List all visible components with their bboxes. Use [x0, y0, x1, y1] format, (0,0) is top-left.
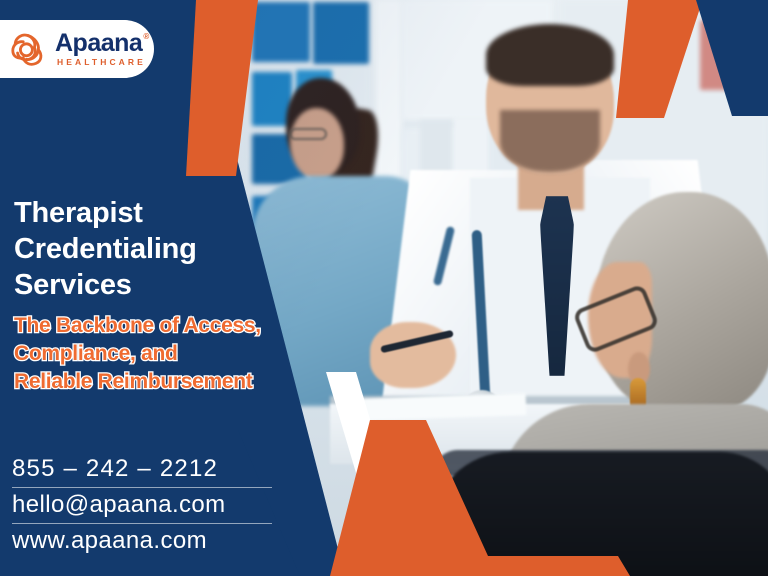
page-title: Therapist Credentialing Services: [14, 196, 314, 304]
subheadline-line-1: The Backbone of Access,: [14, 312, 334, 340]
brand-name: Apaana: [55, 31, 142, 56]
headline-line-1: Therapist: [14, 196, 314, 232]
brand-logo[interactable]: Apaana ® HEALTHCARE: [0, 20, 154, 78]
headline-line-3: Services: [14, 268, 314, 304]
brand-name-row: Apaana ®: [55, 31, 149, 56]
medicine-box: [313, 2, 369, 64]
brand-logo-text: Apaana ® HEALTHCARE: [55, 31, 149, 67]
headline-line-2: Credentialing: [14, 232, 314, 268]
subheadline-line-3: Reliable Reimbursement: [14, 368, 334, 396]
doctor-hair: [486, 24, 614, 86]
contact-email[interactable]: hello@apaana.com: [12, 488, 272, 524]
doctor-beard: [500, 110, 600, 172]
interlocking-star-knot-icon: [8, 29, 48, 69]
nurse-face: [290, 108, 344, 180]
contact-website[interactable]: www.apaana.com: [12, 524, 272, 559]
orange-bottom-edge-run: [400, 556, 615, 576]
brand-tagline: HEALTHCARE: [57, 58, 149, 67]
contact-block: 855 – 242 – 2212 hello@apaana.com www.ap…: [12, 452, 272, 559]
registered-mark: ®: [143, 33, 148, 41]
page-subtitle: The Backbone of Access, Compliance, and …: [14, 312, 334, 396]
nurse-glasses-icon: [289, 128, 327, 140]
contact-phone[interactable]: 855 – 242 – 2212: [12, 452, 272, 488]
medicine-box: [252, 2, 310, 62]
subheadline-line-2: Compliance, and: [14, 340, 334, 368]
promotional-banner: Apaana ® HEALTHCARE Therapist Credential…: [0, 0, 768, 576]
